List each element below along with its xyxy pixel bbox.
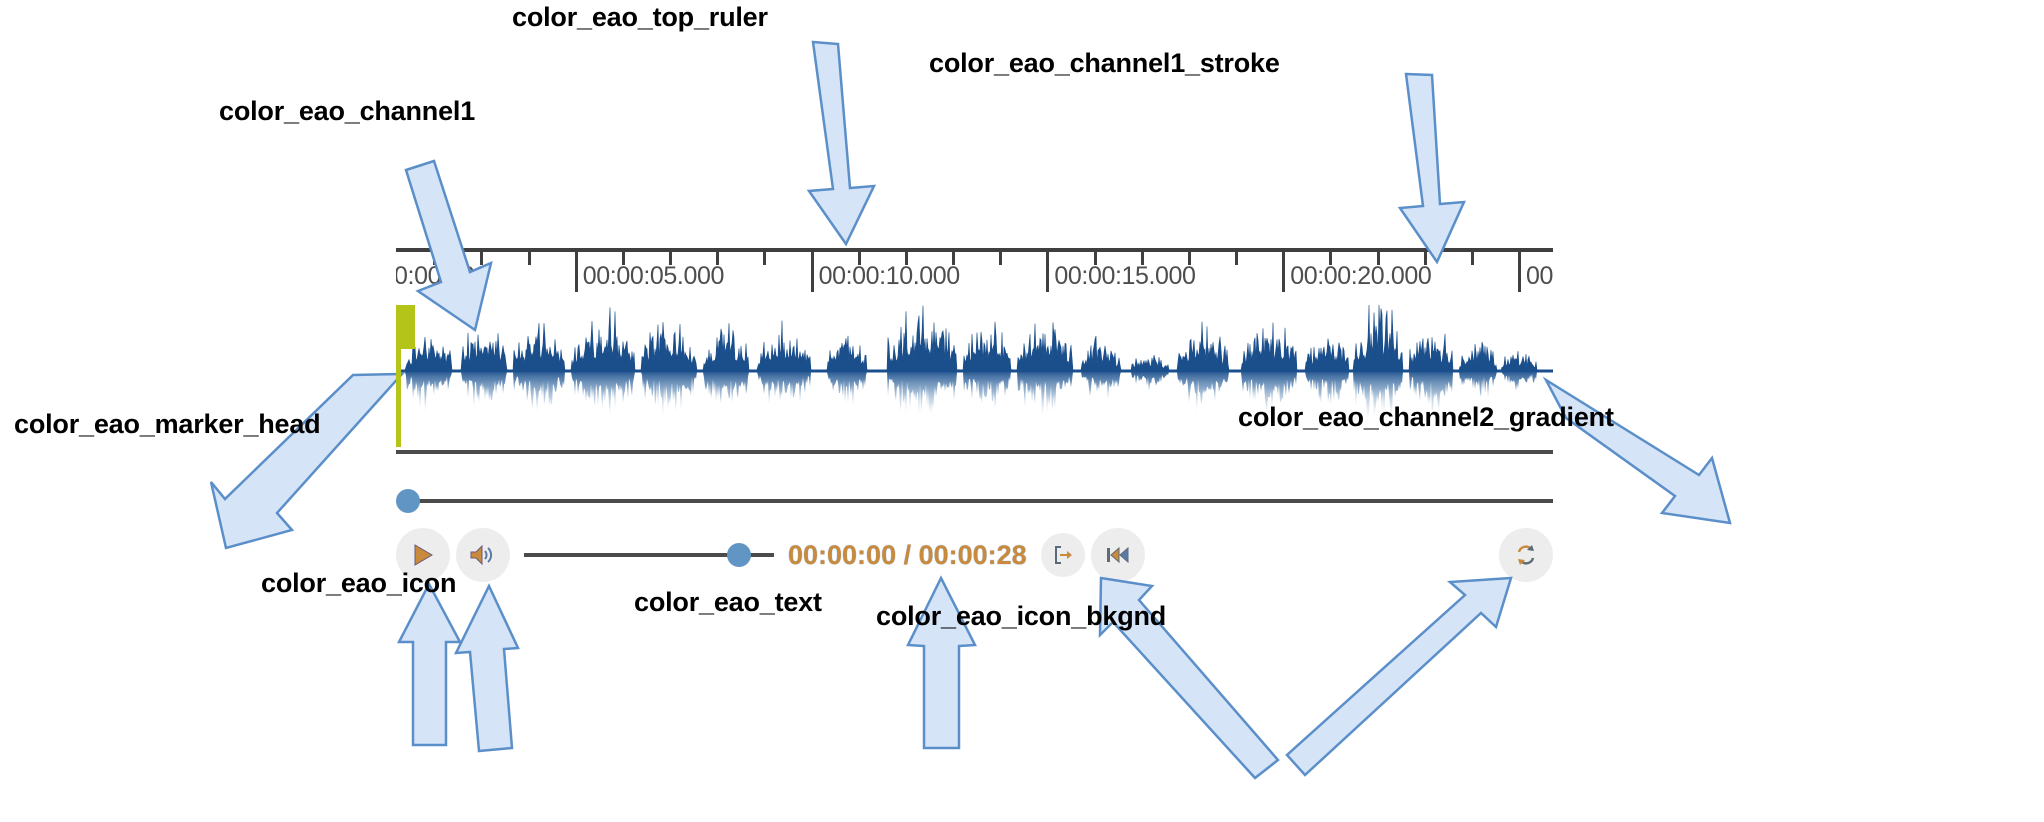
channel1-waveform <box>396 305 1553 373</box>
top-ruler[interactable]: 00:00:00.00000:00:05.00000:00:10.00000:0… <box>396 245 1553 302</box>
marker-head[interactable] <box>396 305 415 349</box>
ruler-tick-label: 00:00:20.000 <box>1290 262 1431 291</box>
ruler-tick-label: 00:00:05.000 <box>583 262 724 291</box>
ruler-tick-label: 00:00:10.000 <box>819 262 960 291</box>
arrow-to-icon-volume <box>456 586 518 751</box>
ruler-minor-tick <box>528 248 531 265</box>
ruler-minor-tick <box>1235 248 1238 265</box>
annotated-audio-player-screenshot: 00:00:00.00000:00:05.00000:00:10.00000:0… <box>0 0 2044 822</box>
export-button[interactable] <box>1041 533 1085 577</box>
label-color-eao-top-ruler: color_eao_top_ruler <box>512 2 768 33</box>
play-icon <box>412 543 434 567</box>
ruler-minor-tick <box>999 248 1002 265</box>
label-color-eao-channel1-stroke: color_eao_channel1_stroke <box>929 48 1280 79</box>
ruler-tick-label: 00:00:25.000 <box>1526 262 1553 291</box>
ruler-tick-label: 00:00:15.000 <box>1054 262 1195 291</box>
ruler-major-tick <box>811 248 814 292</box>
rewind-icon <box>1105 544 1131 566</box>
time-readout: 00:00:00 / 00:00:28 <box>788 540 1027 571</box>
ruler-tick-label: 00:00:00.000 <box>396 262 488 291</box>
ruler-major-tick <box>1046 248 1049 292</box>
volume-icon <box>469 543 497 567</box>
player-controls-bar: 00:00:00 / 00:00:28 <box>396 527 1553 583</box>
arrow-to-icon-bkgnd-right <box>1287 578 1511 775</box>
label-color-eao-icon: color_eao_icon <box>261 568 456 599</box>
volume-thumb[interactable] <box>727 543 751 567</box>
timeline-scroll-slider[interactable] <box>396 489 1553 513</box>
label-color-eao-marker-head: color_eao_marker_head <box>14 409 320 440</box>
label-color-eao-icon-bkgnd: color_eao_icon_bkgnd <box>876 601 1166 632</box>
arrow-to-icon-play <box>399 584 460 745</box>
arrow-to-channel1-stroke <box>1400 74 1464 262</box>
label-color-eao-text: color_eao_text <box>634 587 822 618</box>
waveform-bottom-divider <box>396 450 1553 454</box>
scroll-track[interactable] <box>412 499 1553 503</box>
ruler-major-tick <box>575 248 578 292</box>
label-color-eao-channel2-gradient: color_eao_channel2_gradient <box>1238 402 1614 433</box>
rewind-button[interactable] <box>1091 528 1145 582</box>
arrow-to-marker-head <box>211 374 402 548</box>
channel1-path <box>396 305 1552 371</box>
loop-button[interactable] <box>1499 528 1553 582</box>
label-color-eao-channel1: color_eao_channel1 <box>219 96 475 127</box>
volume-button[interactable] <box>456 528 510 582</box>
export-icon <box>1052 544 1074 566</box>
arrow-to-top-ruler <box>809 42 874 244</box>
ruler-minor-tick <box>763 248 766 265</box>
ruler-minor-tick <box>1471 248 1474 265</box>
loop-icon <box>1514 543 1538 567</box>
scroll-thumb[interactable] <box>396 489 420 513</box>
ruler-major-tick <box>1518 248 1521 292</box>
ruler-major-tick <box>1282 248 1285 292</box>
volume-slider[interactable] <box>524 543 774 567</box>
